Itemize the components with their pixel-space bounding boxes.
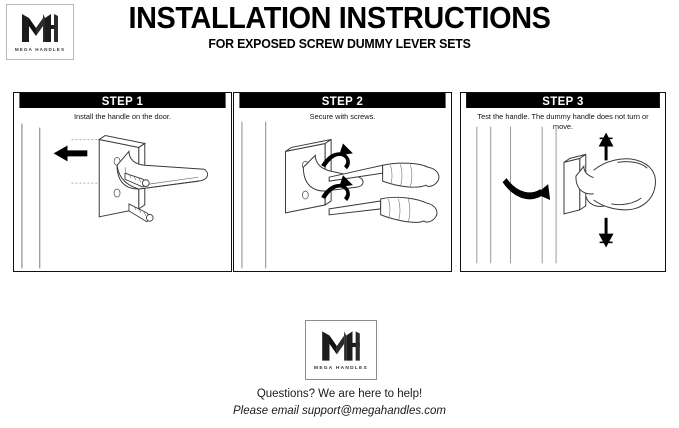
step-1-caption: Install the handle on the door. xyxy=(14,108,231,122)
step-panel-3: STEP 3 Test the handle. The dummy handle… xyxy=(460,92,666,272)
step-panel-2: STEP 2 Secure with screws. xyxy=(233,92,452,272)
step-2-header: STEP 2 xyxy=(239,93,445,108)
door-lever-rose-install-illustration xyxy=(14,121,231,271)
step-3-illustration xyxy=(461,121,665,271)
no-turn-curved-arrow-icon xyxy=(503,178,551,200)
instruction-sheet: MEGA HANDLES INSTALLATION INSTRUCTIONS F… xyxy=(0,0,679,428)
step-2-illustration xyxy=(234,121,451,271)
mega-handles-mh-monogram-icon xyxy=(318,329,364,363)
down-arrow-icon xyxy=(599,218,614,248)
step-1-illustration xyxy=(14,121,231,271)
up-arrow-icon xyxy=(599,133,614,161)
step-1-header: STEP 1 xyxy=(19,93,225,108)
step-panel-1: STEP 1 Install the handle on the door. xyxy=(13,92,232,272)
footer-help-text: Questions? We are here to help! xyxy=(0,388,679,400)
hand-testing-dummy-lever-illustration xyxy=(461,121,665,271)
footer-brand-name: MEGA HANDLES xyxy=(314,366,368,371)
footer-brand-logo: MEGA HANDLES xyxy=(305,320,377,380)
step-2-caption: Secure with screws. xyxy=(234,108,451,122)
page-subtitle: FOR EXPOSED SCREW DUMMY LEVER SETS xyxy=(17,36,662,51)
push-direction-arrow-icon xyxy=(54,145,88,161)
footer-support-email: Please email support@megahandles.com xyxy=(0,405,679,417)
screwdriver-tighten-screws-illustration xyxy=(234,121,451,271)
step-3-header: STEP 3 xyxy=(466,93,660,108)
page-title: INSTALLATION INSTRUCTIONS xyxy=(24,2,655,34)
screwdriver-icon xyxy=(329,197,437,222)
